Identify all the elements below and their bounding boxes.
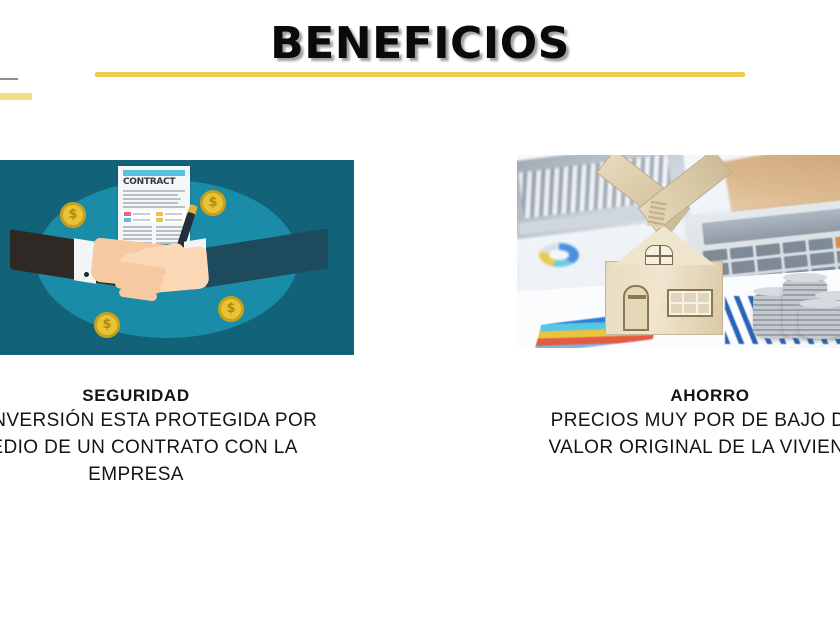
- document-chip-yellow-1: [156, 212, 163, 216]
- benefit-heading-ahorro: AHORRO: [490, 385, 840, 407]
- wooden-house-model: [583, 199, 749, 337]
- dollar-coin-icon-4: $: [94, 312, 120, 338]
- coin-stack-4: [799, 303, 840, 339]
- benefit-line-seguridad-3: EMPRESA: [0, 461, 384, 488]
- handshake-fingers: [106, 264, 180, 298]
- benefit-line-seguridad-2: MEDIO DE UN CONTRATO CON LA: [0, 434, 384, 461]
- document-chip-line-2: [133, 219, 150, 221]
- page-title: BENEFICIOS: [0, 22, 840, 66]
- dollar-coin-icon-2: $: [200, 190, 226, 216]
- document-chip-blue: [124, 218, 131, 222]
- left-cuff-button: [84, 272, 89, 277]
- house-door: [623, 285, 649, 331]
- donut-chart-graphic: [539, 243, 579, 267]
- dollar-coin-icon-3: $: [218, 296, 244, 322]
- document-chip-line-1: [133, 213, 150, 215]
- house-attic-window: [645, 245, 673, 265]
- document-field-row: [123, 210, 185, 223]
- document-chip-line-4: [165, 219, 182, 221]
- benefit-caption-ahorro: AHORRO PRECIOS MUY POR DE BAJO DEL VALOR…: [490, 385, 840, 461]
- coin-stacks: [753, 267, 840, 339]
- benefit-image-ahorro: [517, 155, 840, 348]
- benefit-caption-seguridad: SEGURIDAD TU INVERSIÓN ESTA PROTEGIDA PO…: [0, 385, 384, 488]
- title-underline-rule: [95, 72, 745, 77]
- document-chip-yellow-2: [156, 218, 163, 222]
- contract-label: CONTRACT: [123, 178, 185, 187]
- document-chip-red: [124, 212, 131, 216]
- slide-canvas: BENEFICIOS CONTRACT: [0, 0, 840, 630]
- benefit-line-ahorro-2: VALOR ORIGINAL DE LA VIVIENDA: [490, 434, 840, 461]
- benefit-image-seguridad: CONTRACT: [0, 160, 354, 355]
- document-header-bar: [123, 170, 185, 176]
- house-main-window: [667, 289, 713, 317]
- document-chip-line-3: [165, 213, 182, 215]
- benefit-line-seguridad-1: TU INVERSIÓN ESTA PROTEGIDA POR: [0, 407, 384, 434]
- benefit-heading-seguridad: SEGURIDAD: [0, 385, 384, 407]
- benefit-line-ahorro-1: PRECIOS MUY POR DE BAJO DEL: [490, 407, 840, 434]
- edge-yellow-accent-decoration: [0, 93, 32, 100]
- dollar-coin-icon-1: $: [60, 202, 86, 228]
- edge-gray-line-decoration: [0, 78, 18, 80]
